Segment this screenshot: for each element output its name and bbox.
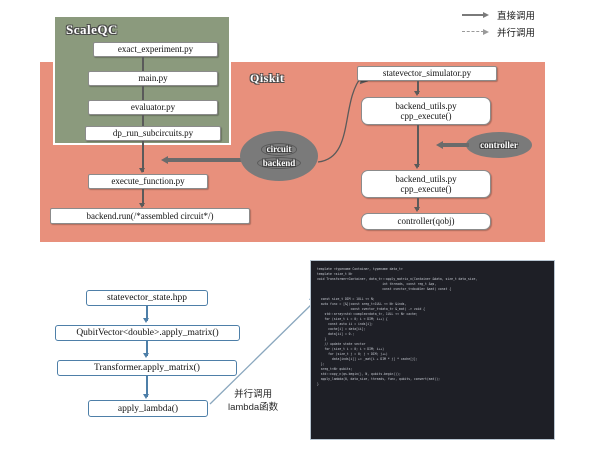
callout-line-backend: backend xyxy=(257,157,302,169)
arrowhead-to-apply-lambda xyxy=(143,394,149,399)
node-statevector-simulator[interactable]: statevector_simulator.py xyxy=(357,66,497,81)
node-backend-run[interactable]: backend.run(/*assembled circuit*/) xyxy=(50,208,250,224)
node-controller-qobj[interactable]: controller(qobj) xyxy=(361,213,491,230)
connector-main-to-evaluator xyxy=(142,86,144,100)
legend-label-direct-call: 直接调用 xyxy=(497,8,535,22)
legend-item-direct-call: 直接调用 xyxy=(462,8,535,22)
code-panel: template <typename Container, typename d… xyxy=(310,260,555,440)
qiskit-panel-title: Qiskit xyxy=(250,71,284,86)
controller-arrow-shaft xyxy=(443,143,469,147)
parallel-lambda-note-line2: lambda函数 xyxy=(228,402,278,415)
solid-arrow-icon xyxy=(462,10,492,20)
code-text: template <typename Container, typename d… xyxy=(317,267,550,387)
connector-exact-to-main xyxy=(142,57,144,71)
node-apply-lambda[interactable]: apply_lambda() xyxy=(88,400,208,417)
node-backend-utils-1[interactable]: backend_utils.py cpp_execute() xyxy=(361,97,491,125)
arrowhead-to-execute-function xyxy=(139,168,145,173)
node-exact-experiment[interactable]: exact_experiment.py xyxy=(93,42,218,57)
arrowhead-to-transformer xyxy=(143,353,149,358)
arrowhead-to-backend-utils-2 xyxy=(414,164,420,169)
node-backend-utils-1-line2: cpp_execute() xyxy=(401,111,452,121)
return-arrow-head xyxy=(161,156,168,164)
callout-line-circuit: circuit xyxy=(261,143,298,155)
node-evaluator[interactable]: evaluator.py xyxy=(88,100,218,115)
node-backend-utils-2-line1: backend_utils.py xyxy=(395,174,456,184)
controller-callout: controller xyxy=(466,132,532,158)
parallel-lambda-note-line1: 并行调用 xyxy=(228,389,278,402)
arrowhead-to-backend-utils-1 xyxy=(414,91,420,96)
controller-arrow-head xyxy=(436,141,443,149)
connector-evaluator-to-dp-run xyxy=(142,115,144,126)
node-backend-utils-1-line1: backend_utils.py xyxy=(395,101,456,111)
legend-item-parallel-call: 并行调用 xyxy=(462,25,535,39)
node-statevector-state-hpp[interactable]: statevector_state.hpp xyxy=(86,290,208,306)
node-execute-function[interactable]: execute_function.py xyxy=(88,174,208,189)
return-arrow-shaft xyxy=(168,158,243,162)
arrowhead-to-controller-qobj xyxy=(414,207,420,212)
node-main[interactable]: main.py xyxy=(88,71,218,86)
callout-line-controller: controller xyxy=(480,140,518,150)
parallel-lambda-note: 并行调用 lambda函数 xyxy=(228,389,278,415)
node-backend-utils-2-line2: cpp_execute() xyxy=(401,184,452,194)
arrowhead-to-qubitvector xyxy=(143,318,149,323)
node-dp-run-subcircuits[interactable]: dp_run_subcircuits.py xyxy=(85,126,221,141)
dashed-arrow-icon xyxy=(462,27,492,37)
connector-backend-utils-1-to-2 xyxy=(417,125,419,167)
legend: 直接调用 并行调用 xyxy=(462,8,535,39)
legend-label-parallel-call: 并行调用 xyxy=(497,25,535,39)
scaleqc-panel-title: ScaleQC xyxy=(66,22,118,38)
node-backend-utils-2[interactable]: backend_utils.py cpp_execute() xyxy=(361,170,491,198)
